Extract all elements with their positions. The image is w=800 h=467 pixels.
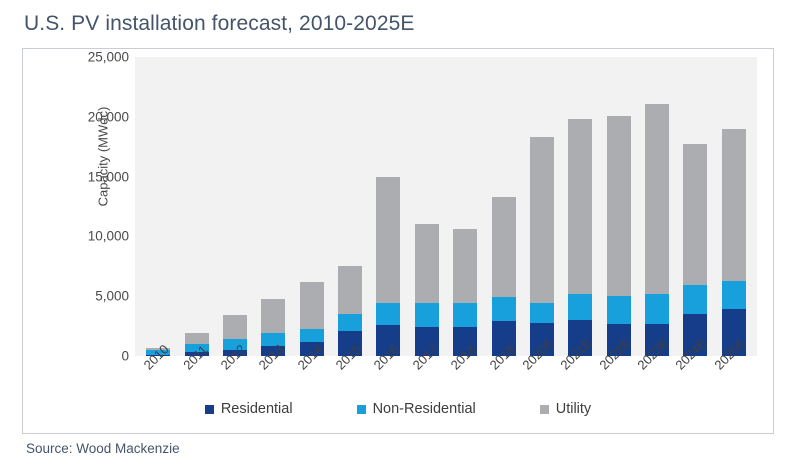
bar-segment-non-residential[interactable] <box>530 303 554 322</box>
y-axis-tick-label: 10,000 <box>88 229 129 244</box>
bar-stack[interactable] <box>415 224 439 356</box>
bar-column[interactable] <box>216 57 254 356</box>
bar-segment-non-residential[interactable] <box>568 294 592 320</box>
bar-column[interactable] <box>600 57 638 356</box>
y-axis-tick-label: 25,000 <box>88 50 129 65</box>
bar-segment-utility[interactable] <box>568 119 592 294</box>
bar-column[interactable] <box>523 57 561 356</box>
bar-segment-utility[interactable] <box>530 137 554 303</box>
legend-item[interactable]: Utility <box>540 401 591 417</box>
bar-segment-utility[interactable] <box>338 266 362 314</box>
page-title: U.S. PV installation forecast, 2010-2025… <box>24 12 415 36</box>
bar-segment-utility[interactable] <box>223 315 247 339</box>
bar-stack[interactable] <box>607 116 631 356</box>
bar-column[interactable] <box>369 57 407 356</box>
bar-column[interactable] <box>561 57 599 356</box>
bar-segment-non-residential[interactable] <box>300 329 324 342</box>
plot-wrapper: Capacity (MWdc) 25,00020,00015,00010,000… <box>23 49 773 433</box>
bar-segment-utility[interactable] <box>453 229 477 303</box>
y-axis-ticks: 25,00020,00015,00010,0005,0000 <box>63 49 135 433</box>
bar-segment-utility[interactable] <box>376 177 400 304</box>
bar-segment-non-residential[interactable] <box>683 285 707 314</box>
source-note: Source: Wood Mackenzie <box>26 441 180 456</box>
bar-column[interactable] <box>293 57 331 356</box>
bar-stack[interactable] <box>645 104 669 356</box>
bar-column[interactable] <box>408 57 446 356</box>
chart-page: U.S. PV installation forecast, 2010-2025… <box>0 0 800 467</box>
bar-segment-non-residential[interactable] <box>415 303 439 327</box>
bar-column[interactable] <box>254 57 292 356</box>
bar-column[interactable] <box>331 57 369 356</box>
bar-group <box>135 57 757 356</box>
bar-segment-non-residential[interactable] <box>722 281 746 310</box>
bar-column[interactable] <box>676 57 714 356</box>
bar-column[interactable] <box>484 57 522 356</box>
bar-segment-non-residential[interactable] <box>453 303 477 327</box>
bar-stack[interactable] <box>453 229 477 356</box>
bar-segment-utility[interactable] <box>683 144 707 285</box>
square-swatch-icon <box>540 405 549 414</box>
bar-segment-utility[interactable] <box>607 116 631 297</box>
bar-stack[interactable] <box>568 119 592 356</box>
bar-segment-utility[interactable] <box>722 129 746 281</box>
bar-segment-utility[interactable] <box>415 224 439 303</box>
bar-segment-utility[interactable] <box>185 333 209 344</box>
bar-stack[interactable] <box>338 266 362 356</box>
bar-segment-non-residential[interactable] <box>376 303 400 325</box>
bar-stack[interactable] <box>530 137 554 356</box>
plot-area <box>135 57 757 356</box>
legend-item-label: Utility <box>556 401 591 417</box>
square-swatch-icon <box>357 405 366 414</box>
y-axis-tick-label: 5,000 <box>95 289 129 304</box>
bar-segment-utility[interactable] <box>645 104 669 294</box>
square-swatch-icon <box>205 405 214 414</box>
bar-column[interactable] <box>139 57 177 356</box>
legend: ResidentialNon-ResidentialUtility <box>23 401 773 417</box>
legend-item[interactable]: Non-Residential <box>357 401 476 417</box>
bar-column[interactable] <box>715 57 753 356</box>
bar-segment-utility[interactable] <box>492 197 516 297</box>
bar-stack[interactable] <box>683 144 707 356</box>
bar-stack[interactable] <box>722 129 746 356</box>
bar-segment-utility[interactable] <box>261 299 285 334</box>
bar-column[interactable] <box>638 57 676 356</box>
legend-item-label: Non-Residential <box>373 401 476 417</box>
y-axis-tick-label: 0 <box>121 349 129 364</box>
bar-segment-non-residential[interactable] <box>338 314 362 331</box>
bar-column[interactable] <box>446 57 484 356</box>
bar-segment-non-residential[interactable] <box>645 294 669 324</box>
bar-segment-non-residential[interactable] <box>492 297 516 321</box>
bar-column[interactable] <box>177 57 215 356</box>
bar-segment-utility[interactable] <box>300 282 324 329</box>
legend-item-label: Residential <box>221 401 293 417</box>
chart-panel: Capacity (MWdc) 25,00020,00015,00010,000… <box>22 48 774 434</box>
bar-stack[interactable] <box>376 177 400 356</box>
bar-stack[interactable] <box>492 197 516 356</box>
legend-item[interactable]: Residential <box>205 401 293 417</box>
y-axis-tick-label: 20,000 <box>88 109 129 124</box>
bar-segment-non-residential[interactable] <box>607 296 631 324</box>
y-axis-tick-label: 15,000 <box>88 169 129 184</box>
